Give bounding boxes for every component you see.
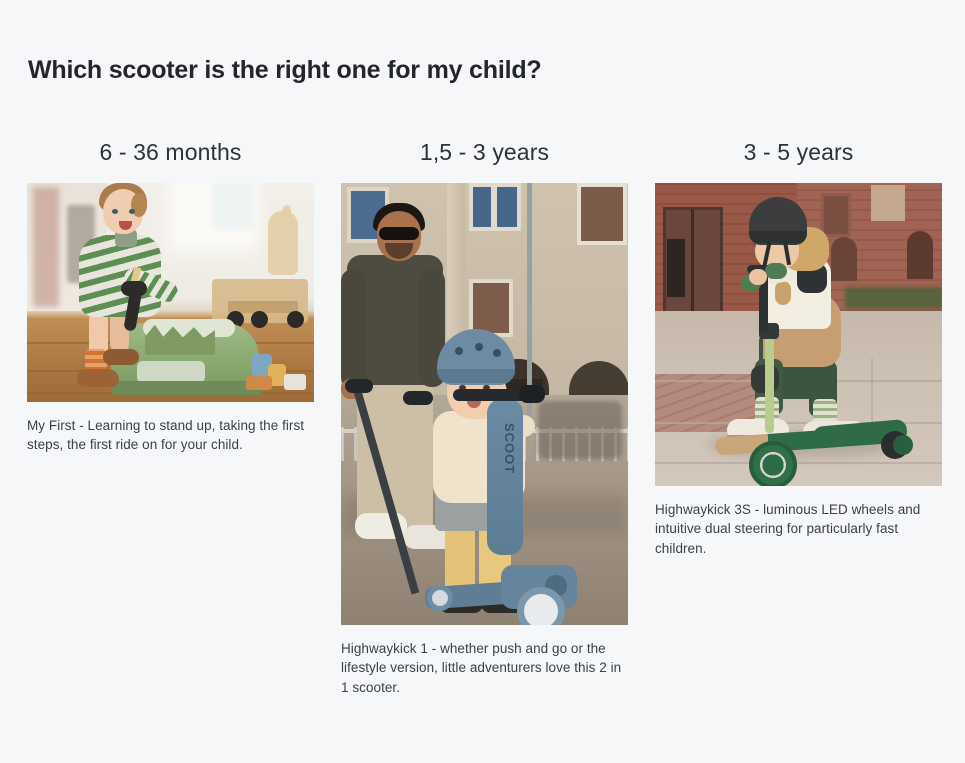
age-range-heading-0: 6 - 36 months: [27, 138, 314, 167]
ride-on-toy-handle-cutout: [137, 361, 205, 383]
age-group-card-1: 1,5 - 3 years: [341, 138, 628, 711]
window-pane: [213, 183, 253, 229]
toy-blocks-group: [246, 350, 312, 398]
window-mullion: [491, 183, 497, 229]
product-image-highwaykick-1[interactable]: SCOOT: [341, 183, 628, 625]
child-eye: [112, 209, 118, 214]
adult-arm: [341, 269, 367, 389]
paving-joint: [655, 462, 942, 464]
product-caption-2: Highwaykick 3S - luminous LED wheels and…: [655, 500, 942, 559]
arched-window: [907, 231, 933, 279]
helmet-rim: [749, 231, 807, 243]
age-range-heading-2: 3 - 5 years: [655, 138, 942, 167]
age-group-card-0: 6 - 36 months: [27, 138, 314, 468]
handlebar-grip: [765, 263, 787, 279]
product-caption-0: My First - Learning to stand up, taking …: [27, 416, 314, 455]
child-eye: [129, 209, 135, 214]
helmet-vent: [455, 347, 463, 355]
product-image-my-first[interactable]: [27, 183, 314, 402]
scooter-rear-wheel: [427, 585, 453, 611]
child-shoe: [103, 349, 139, 365]
product-image-highwaykick-3s[interactable]: [655, 183, 942, 486]
building-window: [577, 183, 627, 245]
building-window: [667, 239, 685, 297]
building-window: [871, 185, 905, 221]
child-hand: [749, 269, 767, 285]
scooter-wheel-hub: [893, 435, 913, 455]
product-caption-1: Highwaykick 1 - whether push and go or t…: [341, 639, 628, 698]
helmet-rim: [437, 369, 515, 383]
door-split-line: [691, 209, 694, 321]
scooter-stem-lower: [765, 329, 774, 433]
cart-wheel: [251, 311, 268, 328]
arched-window: [831, 237, 857, 281]
page-title: Which scooter is the right one for my ch…: [28, 55, 541, 85]
scooter-age-guide-page: Which scooter is the right one for my ch…: [0, 0, 965, 763]
ride-on-toy-base: [111, 381, 263, 395]
scooter-brand-text: SCOOT: [493, 423, 517, 513]
paving-joint: [871, 358, 873, 422]
scooter-front-led-wheel: [749, 441, 797, 486]
background-people: [538, 401, 622, 459]
helmet-vent: [475, 343, 483, 351]
ride-on-handle-grip: [121, 281, 147, 296]
sunglasses: [379, 227, 419, 240]
helmet-vent: [493, 349, 501, 357]
grass-strip: [845, 287, 942, 309]
toy-block: [284, 374, 306, 390]
push-bar-grip: [403, 391, 433, 405]
toy-block: [246, 376, 272, 390]
child-shoe: [77, 369, 119, 387]
cart-wheel: [287, 311, 304, 328]
building-window: [821, 193, 851, 237]
age-range-heading-1: 1,5 - 3 years: [341, 138, 628, 167]
shirt-graphic: [775, 281, 791, 305]
age-group-columns: 6 - 36 months: [27, 138, 942, 711]
push-bar-grip: [345, 379, 373, 393]
wooden-rabbit-toy: [268, 211, 298, 275]
door-blur: [33, 187, 59, 307]
age-group-card-2: 3 - 5 years: [655, 138, 942, 572]
handlebar-grip: [519, 385, 545, 403]
